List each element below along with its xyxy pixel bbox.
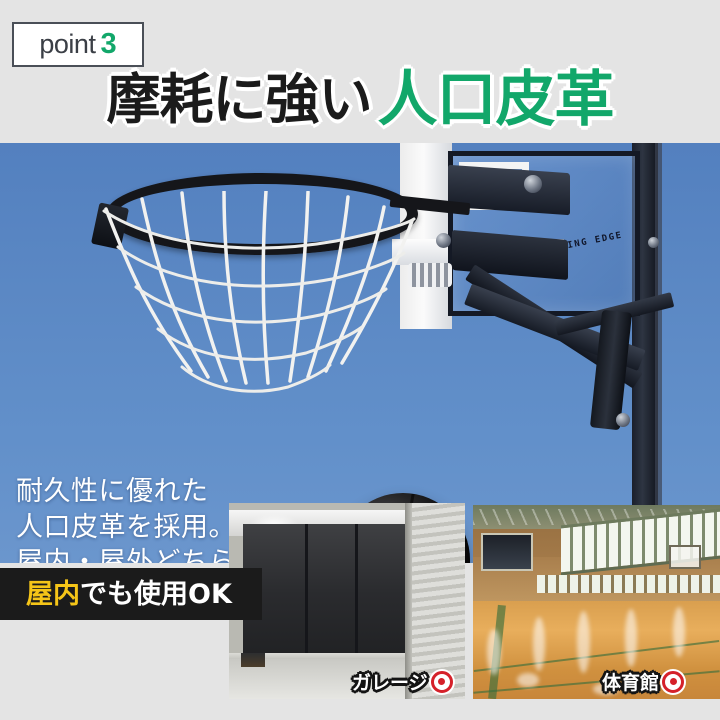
point-badge-number: 3	[100, 30, 116, 59]
gymnasium-caption: 体育館	[602, 668, 684, 695]
gym-floor-reflection	[625, 609, 637, 667]
promo-banner-page: point 3 摩耗に強い 人口皮革 LEADING EDGE	[0, 0, 720, 720]
gym-floor-reflection	[673, 607, 685, 657]
headline-green-text: 人口皮革	[378, 70, 614, 130]
banner-rest-text: でも使用OK	[80, 579, 232, 610]
point-badge: point 3	[12, 22, 144, 67]
double-circle-icon	[662, 671, 684, 693]
garage-door	[243, 524, 405, 664]
gym-stage-opening	[481, 533, 533, 571]
gymnasium-caption-label: 体育館	[602, 668, 659, 695]
headline-black-text: 摩耗に強い	[107, 73, 372, 127]
bolt-icon	[648, 237, 659, 248]
indoor-ok-banner-text: 屋内でも使用OK	[26, 581, 232, 608]
gym-backboard	[669, 545, 701, 569]
gym-floor-reflection	[533, 617, 545, 671]
gym-floor-reflection	[577, 611, 590, 673]
page-title: 摩耗に強い 人口皮革	[0, 64, 720, 136]
garage-caption-label: ガレージ	[352, 668, 428, 695]
bolt-icon	[616, 413, 630, 427]
indoor-ok-banner: 屋内でも使用OK	[0, 568, 262, 620]
gym-floor-reflection	[487, 629, 501, 675]
banner-highlight-text: 屋内	[26, 579, 80, 610]
header-section: point 3 摩耗に強い 人口皮革	[0, 0, 720, 143]
garage-caption: ガレージ	[352, 668, 453, 695]
main-photo: LEADING EDGE	[0, 143, 720, 563]
bolt-icon	[436, 233, 451, 248]
bolt-icon	[524, 175, 542, 193]
gym-lower-windows	[537, 575, 720, 593]
garage-door-seam	[305, 524, 308, 664]
hoop-pole-highlight	[655, 143, 662, 563]
gym-floor-reflection	[517, 673, 539, 687]
pole-pad	[590, 310, 632, 430]
garage-crate	[241, 653, 265, 667]
garage-door-seam	[355, 524, 358, 664]
hoop-net	[96, 191, 436, 421]
double-circle-icon	[431, 671, 453, 693]
point-badge-label: point	[39, 31, 95, 58]
